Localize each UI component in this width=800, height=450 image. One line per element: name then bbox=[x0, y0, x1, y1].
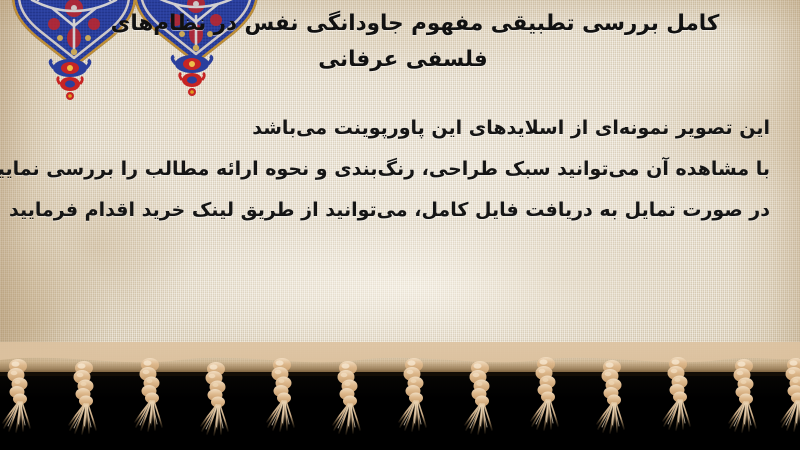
body-line-3: در صورت تمایل به دریافت فایل کامل، می‌تو… bbox=[40, 190, 770, 231]
body-line-2: با مشاهده آن می‌توانید سبک طراحی، رنگ‌بن… bbox=[40, 149, 770, 190]
slide-body: این تصویر نمونه‌ای از اسلایدهای این پاور… bbox=[40, 108, 770, 231]
slide-canvas: کامل بررسی تطبیقی مفهوم جاودانگی نفس در … bbox=[0, 0, 800, 450]
slide-title: کامل بررسی تطبیقی مفهوم جاودانگی نفس در … bbox=[60, 6, 770, 78]
carpet-tassel-fringe bbox=[0, 342, 800, 450]
title-line-1: کامل بررسی تطبیقی مفهوم جاودانگی نفس در … bbox=[60, 6, 770, 42]
body-line-1: این تصویر نمونه‌ای از اسلایدهای این پاور… bbox=[40, 108, 770, 149]
title-line-2: فلسفی عرفانی bbox=[60, 42, 770, 78]
